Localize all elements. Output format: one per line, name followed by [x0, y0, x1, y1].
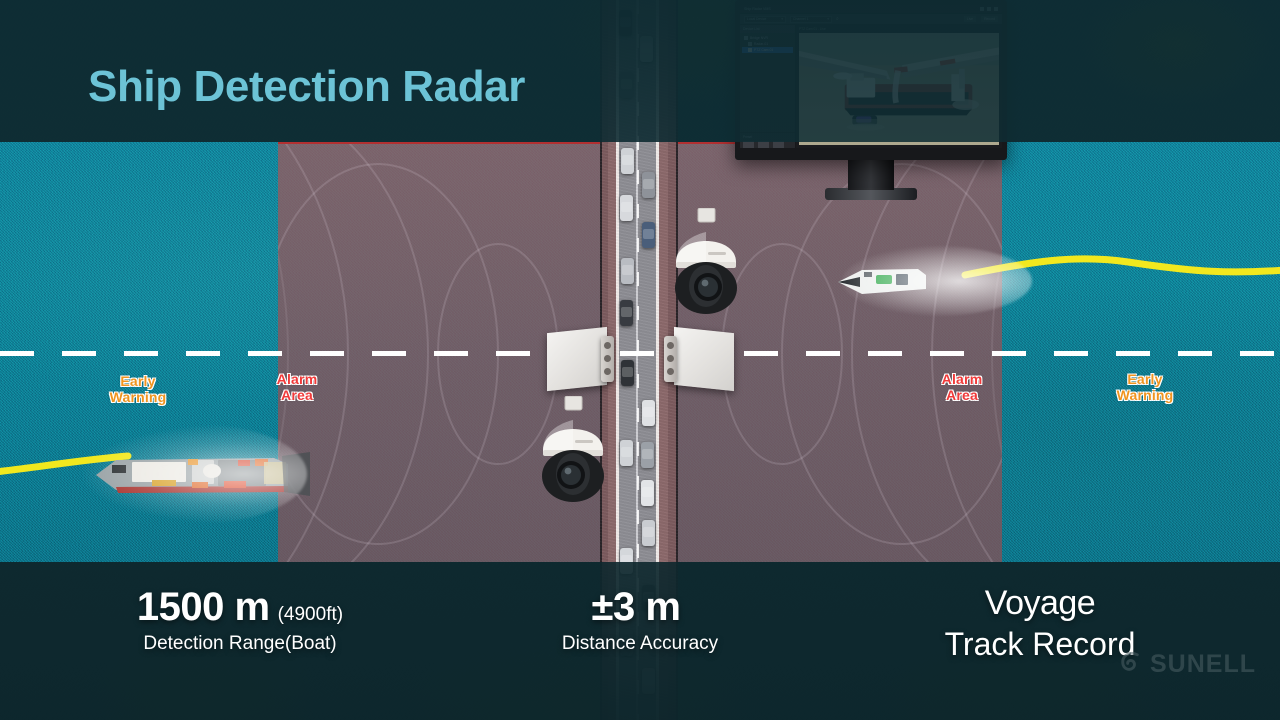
early-warning-label-right: Early Warning	[1090, 372, 1200, 403]
monitor-stand	[848, 160, 894, 190]
vehicle	[621, 258, 634, 284]
preset-button[interactable]	[758, 141, 769, 148]
stat-value-row: 1500 m(4900ft)	[0, 586, 480, 628]
zone-label-line2: Warning	[83, 390, 193, 406]
cargo-vessel-left	[52, 418, 312, 530]
stat-detection-range: 1500 m(4900ft) Detection Range(Boat)	[0, 586, 480, 664]
stat-value: Voyage	[800, 586, 1280, 622]
stat-value: ±3 m	[592, 585, 681, 629]
mount-bolt-icon	[667, 342, 674, 349]
mount-bolt-icon	[604, 342, 611, 349]
mount-bolt-icon	[604, 355, 611, 362]
mount-bolt-icon	[667, 368, 674, 375]
vehicle	[642, 520, 655, 546]
zone-label-line1: Early	[1090, 372, 1200, 388]
zone-label-line2: Area	[242, 388, 352, 404]
early-warning-label-left: Early Warning	[83, 374, 193, 405]
speedboat-right	[822, 244, 1032, 320]
vehicle	[620, 300, 633, 326]
stat-value: 1500 m	[137, 585, 270, 629]
radar-panel-right-mount	[664, 336, 677, 382]
zone-label-line2: Area	[907, 388, 1017, 404]
zone-label-line1: Alarm	[907, 372, 1017, 388]
radar-panel-left-mount	[601, 336, 614, 382]
alarm-area-label-right: Alarm Area	[907, 372, 1017, 403]
vehicle	[641, 442, 654, 468]
stat-caption: Detection Range(Boat)	[0, 632, 480, 656]
brand-name: SUNELL	[1150, 650, 1256, 679]
page-title: Ship Detection Radar	[88, 62, 525, 112]
stat-value-row: ±3 m	[480, 586, 800, 628]
stats-row: 1500 m(4900ft) Detection Range(Boat) ±3 …	[0, 586, 1280, 664]
preset-button[interactable]	[773, 141, 784, 148]
vessel-wake	[842, 246, 1032, 316]
radar-panel-right[interactable]	[674, 327, 734, 391]
radar-axis-line	[0, 351, 1280, 356]
ptz-camera-upper[interactable]	[668, 208, 744, 316]
ship-detection-radar-slide: Early Warning Alarm Area Alarm Area Earl…	[0, 0, 1280, 720]
zone-label-line1: Early	[83, 374, 193, 390]
stat-distance-accuracy: ±3 m Distance Accuracy	[480, 586, 800, 664]
ptz-camera-lower[interactable]	[535, 396, 611, 504]
vehicle	[642, 172, 655, 198]
brand-logo: SUNELL	[1118, 648, 1256, 680]
mount-bolt-icon	[667, 355, 674, 362]
stat-unit: (4900ft)	[278, 604, 343, 625]
vehicle	[641, 480, 654, 506]
alarm-area-label-left: Alarm Area	[242, 372, 352, 403]
stat-caption: Distance Accuracy	[480, 632, 800, 656]
spiral-logo-icon	[1118, 648, 1145, 680]
zone-label-line2: Warning	[1090, 388, 1200, 404]
vehicle	[642, 400, 655, 426]
vehicle	[620, 195, 633, 221]
preset-buttons[interactable]	[743, 141, 792, 148]
vessel-wake	[82, 424, 307, 524]
vehicle	[642, 222, 655, 248]
zone-label-line1: Alarm	[242, 372, 352, 388]
vehicle	[621, 360, 634, 386]
radar-panel-left[interactable]	[547, 327, 607, 391]
mount-bolt-icon	[604, 368, 611, 375]
vehicle	[620, 440, 633, 466]
preset-button[interactable]	[743, 141, 754, 148]
vehicle	[621, 148, 634, 174]
